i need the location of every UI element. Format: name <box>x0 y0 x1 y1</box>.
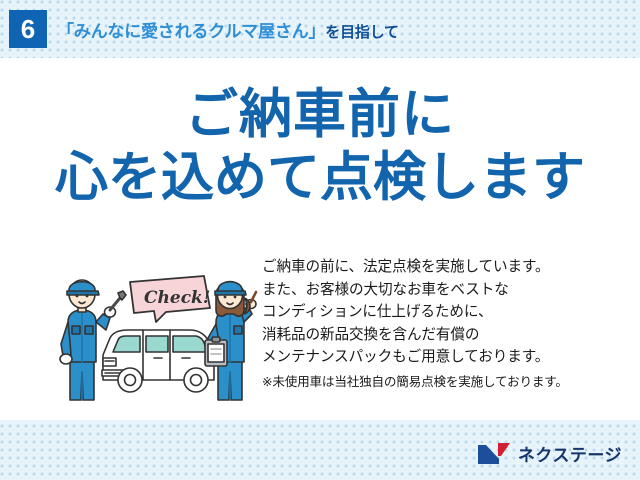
check-bubble-text: Check! <box>144 288 210 308</box>
body-copy: ご納車の前に、法定点検を実施しています。 また、お客様の大切なお車をベストな コ… <box>262 256 630 391</box>
section-number-badge: 6 <box>9 10 47 48</box>
header-title: 「みんなに愛されるクルマ屋さん」を目指して <box>57 17 399 42</box>
body-line: ご納車の前に、法定点検を実施しています。 <box>262 256 630 279</box>
brand-logo: ネクステージ <box>477 441 622 466</box>
body-line: また、お客様の大切なお車をベストな <box>262 279 630 302</box>
female-mechanic-icon <box>205 282 256 401</box>
nextage-n-mark-icon <box>477 442 511 466</box>
header-band: 6 「みんなに愛されるクルマ屋さん」を目指して <box>0 0 640 58</box>
headline-line-2: 心を込めて点検します <box>0 146 640 210</box>
body-line: 消耗品の新品交換を含んだ有償の <box>262 324 630 347</box>
body-line: コンディションに仕上げるために、 <box>262 301 630 324</box>
advertisement-page: 6 「みんなに愛されるクルマ屋さん」を目指して ご納車前に 心を込めて点検します… <box>0 0 640 480</box>
body-line: メンテナンスパックもご用意しております。 <box>262 346 630 369</box>
content-panel: ご納車前に 心を込めて点検します ご納車の前に、法定点検を実施しています。 また… <box>0 58 640 420</box>
page-headline: ご納車前に 心を込めて点検します <box>0 84 640 210</box>
header-title-quote: 「みんなに愛されるクルマ屋さん」 <box>57 22 325 41</box>
white-van-icon <box>98 330 218 392</box>
headline-line-1: ご納車前に <box>0 84 640 146</box>
mechanics-illustration: Check! <box>58 260 260 405</box>
body-note: ※未使用車は当社独自の簡易点検を実施しております。 <box>262 373 630 391</box>
brand-name: ネクステージ <box>518 441 622 466</box>
header-title-tail: を目指して <box>325 24 399 41</box>
